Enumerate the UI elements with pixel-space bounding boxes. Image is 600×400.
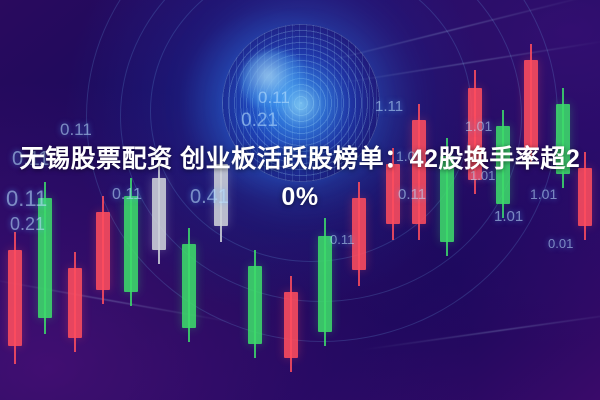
candlestick-body bbox=[248, 266, 262, 344]
candlestick-body bbox=[8, 250, 22, 346]
headline-line-1: 无锡股票配资 创业板活跃股榜单：42股换手率超2 bbox=[0, 140, 600, 178]
candlestick-body bbox=[284, 292, 298, 358]
stock-banner-image: 0.111.110.210.111.010.111.011.010.110.11… bbox=[0, 0, 600, 400]
floating-number: 0.01 bbox=[548, 236, 573, 251]
floating-number: 1.11 bbox=[375, 98, 403, 115]
floating-number: 0.11 bbox=[258, 88, 290, 108]
candlestick-body bbox=[182, 244, 196, 328]
candlestick-body bbox=[96, 212, 110, 290]
floating-number: 0.21 bbox=[10, 214, 45, 235]
headline-text: 无锡股票配资 创业板活跃股榜单：42股换手率超2 0% bbox=[0, 140, 600, 216]
floating-number: 1.01 bbox=[465, 118, 492, 134]
candlestick-body bbox=[524, 60, 538, 148]
candlestick-body bbox=[318, 236, 332, 332]
floating-number: 0.21 bbox=[241, 110, 278, 132]
floating-number: 0.11 bbox=[60, 120, 92, 140]
headline-line-2: 0% bbox=[0, 178, 600, 216]
floating-number: 0.11 bbox=[330, 232, 354, 247]
candlestick-body bbox=[68, 268, 82, 338]
